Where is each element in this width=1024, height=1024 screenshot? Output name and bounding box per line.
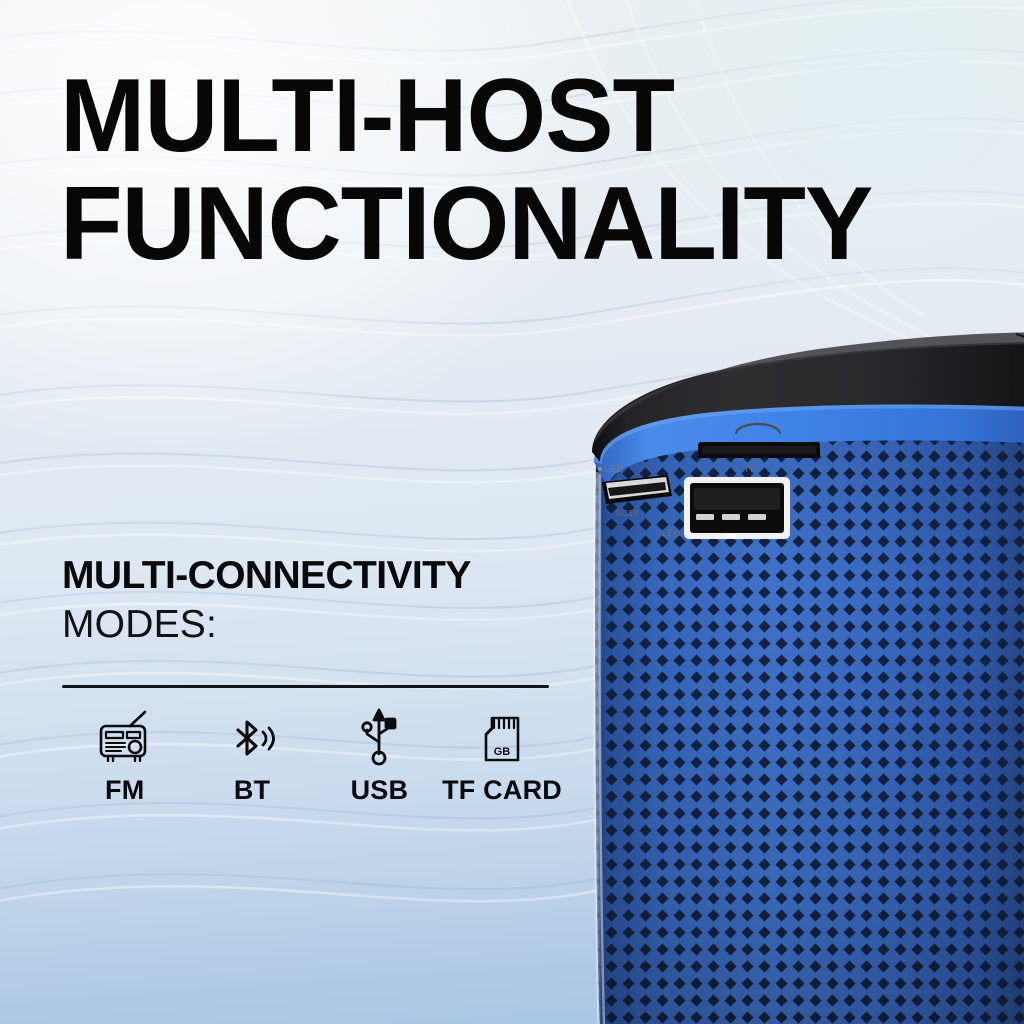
svg-text:TF: TF [744,464,757,474]
headline-line-1: MULTI-HOST [60,66,947,168]
mode-item-bt: BT [187,706,316,806]
mode-item-tf-card: GB TF CARD [442,706,562,806]
radio-icon [97,706,153,768]
bluetooth-icon [226,706,278,768]
mode-label-fm: FM [105,775,144,806]
sd-card-capacity-label: GB [494,746,511,758]
connectivity-modes-row: FM BT [62,706,562,806]
headline-line-2: FUNCTIONALITY [60,174,947,276]
sd-card-icon: GB [478,706,526,768]
mode-label-tf-card: TF CARD [442,775,562,806]
subheading-light: MODES: [62,604,562,646]
product-image-speaker: TF LED DC5V LED [586,312,1024,1024]
mode-label-bt: BT [234,775,270,806]
mode-item-usb: USB [317,706,442,806]
mode-label-usb: USB [351,775,409,806]
mode-item-fm: FM [62,706,187,806]
headline: MULTI-HOST FUNCTIONALITY [60,66,947,276]
subheading-block: MULTI-CONNECTIVITY MODES: [62,556,562,646]
product-marketing-poster: MULTI-HOST FUNCTIONALITY [0,0,1024,1024]
usb-icon [355,706,403,768]
section-divider [62,685,549,688]
svg-text:LED: LED [662,528,681,538]
svg-text:DC5V: DC5V [616,509,639,518]
svg-text:LED: LED [604,464,623,474]
subheading-bold: MULTI-CONNECTIVITY [62,556,562,595]
usb-a-port [684,477,790,539]
